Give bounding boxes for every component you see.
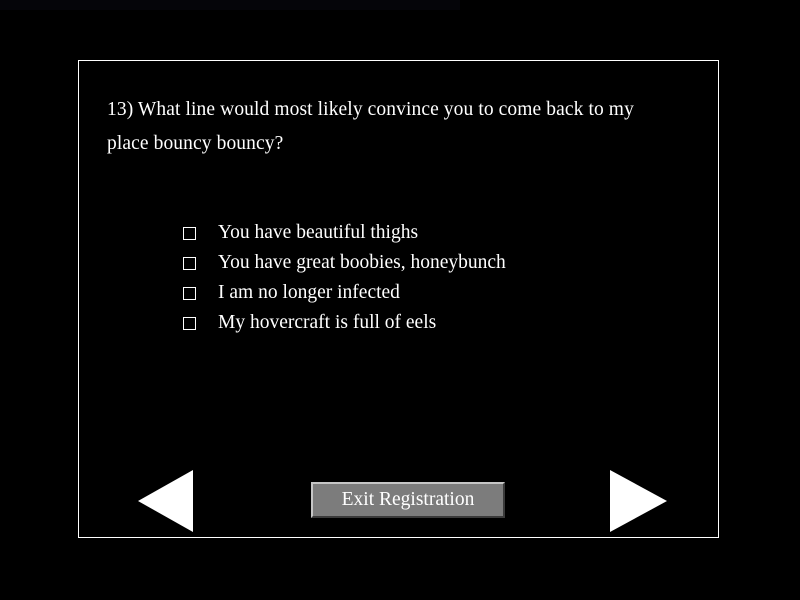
next-question-arrow-icon[interactable] [610, 470, 667, 532]
option-label: You have beautiful thighs [218, 222, 418, 244]
question-text: 13) What line would most likely convince… [107, 93, 677, 161]
option-row[interactable]: You have beautiful thighs [183, 218, 683, 248]
previous-question-arrow-icon[interactable] [138, 470, 193, 532]
option-row[interactable]: You have great boobies, honeybunch [183, 248, 683, 278]
top-strip [0, 0, 460, 10]
checkbox-icon[interactable] [183, 227, 196, 240]
option-row[interactable]: I am no longer infected [183, 278, 683, 308]
option-label: I am no longer infected [218, 282, 400, 304]
application-screen: 13) What line would most likely convince… [0, 0, 800, 600]
question-panel: 13) What line would most likely convince… [78, 60, 719, 538]
checkbox-icon[interactable] [183, 317, 196, 330]
option-label: You have great boobies, honeybunch [218, 252, 506, 274]
options-list: You have beautiful thighs You have great… [183, 218, 683, 338]
checkbox-icon[interactable] [183, 257, 196, 270]
exit-registration-button[interactable]: Exit Registration [311, 482, 505, 518]
option-row[interactable]: My hovercraft is full of eels [183, 308, 683, 338]
checkbox-icon[interactable] [183, 287, 196, 300]
option-label: My hovercraft is full of eels [218, 312, 436, 334]
